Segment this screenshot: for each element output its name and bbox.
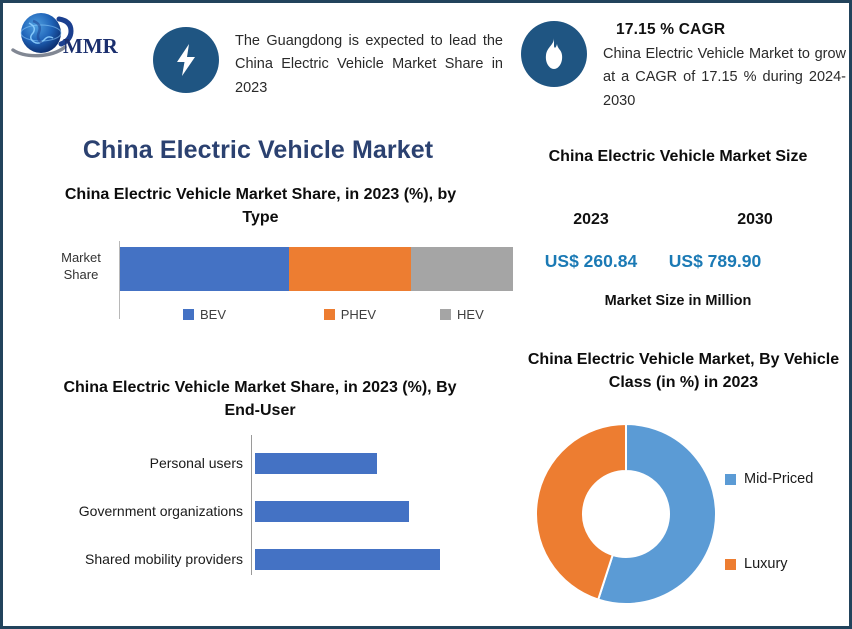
page-title: China Electric Vehicle Market: [23, 136, 493, 165]
end-user-label: Government organizations: [33, 503, 255, 519]
market-size-title: China Electric Vehicle Market Size: [513, 145, 843, 168]
banner-guangdong-text: The Guangdong is expected to lead the Ch…: [235, 27, 503, 100]
stacked-legend-label-bev: BEV: [200, 307, 226, 322]
stacked-legend-label-hev: HEV: [457, 307, 484, 322]
flame-icon: [521, 21, 587, 87]
infographic-canvas: MMR The Guangdong is expected to lead th…: [0, 0, 852, 629]
stacked-axis-label: Market Share: [45, 249, 117, 283]
logo-text: MMR: [63, 34, 119, 58]
end-user-row: Personal users: [33, 451, 503, 475]
stacked-swatch-phev: [324, 309, 335, 320]
stacked-legend-item-hev: HEV: [411, 307, 513, 322]
donut-legend-luxury: Luxury: [725, 556, 788, 572]
stacked-segment-hev: [411, 247, 513, 291]
stacked-swatch-bev: [183, 309, 194, 320]
stacked-legend-item-bev: BEV: [120, 307, 289, 322]
chart-market-share-by-end-user: Personal usersGovernment organizationsSh…: [33, 435, 503, 575]
donut-graphic: [533, 421, 719, 607]
donut-swatch-mid-priced: [725, 474, 736, 485]
end-user-row: Shared mobility providers: [33, 547, 503, 571]
donut-legend-mid-priced: Mid-Priced: [725, 471, 813, 487]
end-user-bar: [255, 549, 440, 570]
chart-title-by-vehicle-class: China Electric Vehicle Market, By Vehicl…: [521, 348, 846, 394]
chart-title-by-type: China Electric Vehicle Market Share, in …: [48, 183, 473, 229]
chart-title-by-end-user: China Electric Vehicle Market Share, in …: [45, 376, 475, 422]
stacked-segment-bev: [120, 247, 289, 291]
end-user-label: Shared mobility providers: [33, 551, 255, 567]
banner-cagr: China Electric Vehicle Market to grow at…: [521, 21, 846, 113]
donut-legend-label-luxury: Luxury: [744, 556, 788, 572]
stacked-legend-label-phev: PHEV: [341, 307, 376, 322]
lightning-bolt-icon: [153, 27, 219, 93]
donut-swatch-luxury: [725, 559, 736, 570]
market-size-year-start: 2023: [531, 211, 651, 229]
end-user-bar: [255, 501, 409, 522]
market-size-value-end: US$ 789.90: [640, 251, 790, 272]
stacked-legend: BEVPHEVHEV: [120, 307, 513, 322]
stacked-segment-phev: [289, 247, 411, 291]
stacked-legend-item-phev: PHEV: [289, 307, 411, 322]
market-size-unit-label: Market Size in Million: [528, 293, 828, 309]
donut-legend-label-mid-priced: Mid-Priced: [744, 471, 813, 487]
end-user-row: Government organizations: [33, 499, 503, 523]
banner-cagr-text: China Electric Vehicle Market to grow at…: [603, 21, 846, 113]
globe-swoosh-icon: MMR: [11, 9, 121, 61]
mmr-logo: MMR: [11, 9, 121, 61]
stacked-bar: [120, 247, 513, 291]
market-size-year-end: 2030: [695, 211, 815, 229]
banner-guangdong: The Guangdong is expected to lead the Ch…: [153, 27, 503, 100]
end-user-bar: [255, 453, 377, 474]
chart-market-by-vehicle-class: Mid-Priced Luxury: [533, 421, 843, 616]
chart-market-share-by-type: Market Share BEVPHEVHEV: [45, 241, 515, 336]
stacked-swatch-hev: [440, 309, 451, 320]
end-user-label: Personal users: [33, 455, 255, 471]
